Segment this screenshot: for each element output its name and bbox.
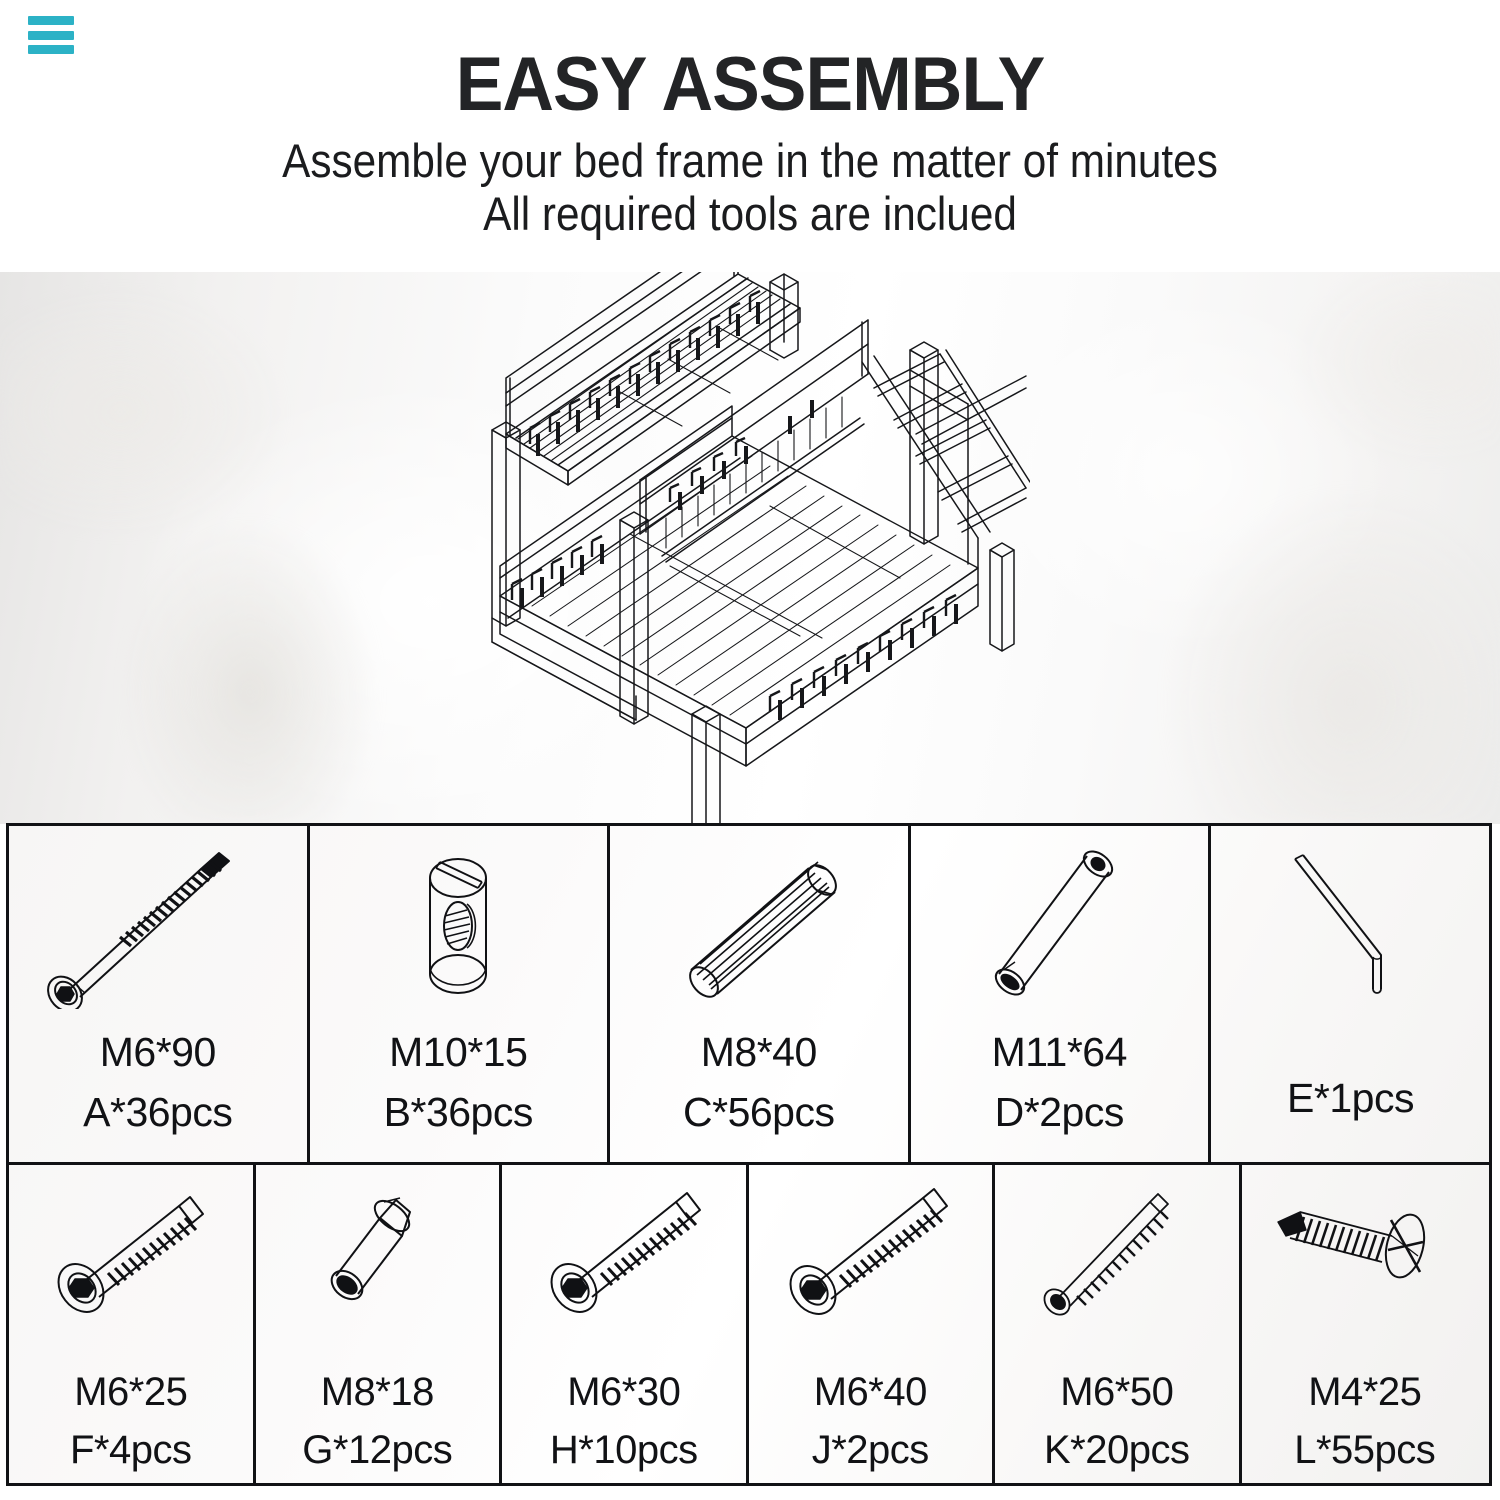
- part-cell-d[interactable]: M11*64 D*2pcs: [911, 826, 1212, 1162]
- part-cell-l[interactable]: M4*25 L*55pcs: [1242, 1165, 1489, 1483]
- part-labels-h: M6*30 H*10pcs: [502, 1363, 746, 1479]
- part-figure-h: [502, 1165, 746, 1363]
- part-labels-g: M8*18 G*12pcs: [256, 1363, 500, 1479]
- part-figure-j: [749, 1165, 993, 1363]
- part-figure-l: [1242, 1165, 1489, 1363]
- part-spec-a: M6*90: [9, 1022, 307, 1082]
- part-spec-h: M6*30: [502, 1363, 746, 1421]
- part-count-c: C*56pcs: [610, 1082, 908, 1142]
- part-cell-c[interactable]: M8*40 C*56pcs: [610, 826, 911, 1162]
- hex-socket-bolt-icon: [765, 1184, 975, 1344]
- wooden-dowel-icon: [649, 844, 869, 1004]
- barrel-nut-icon: [383, 834, 533, 1014]
- part-figure-e: [1211, 826, 1490, 1022]
- page-header: EASY ASSEMBLY Assemble your bed frame in…: [0, 0, 1500, 272]
- part-spec-k: M6*50: [995, 1363, 1239, 1421]
- metal-pin-icon: [959, 834, 1159, 1014]
- part-labels-j: M6*40 J*2pcs: [749, 1363, 993, 1479]
- part-cell-b[interactable]: M10*15 B*36pcs: [310, 826, 611, 1162]
- part-labels-a: M6*90 A*36pcs: [9, 1022, 307, 1142]
- hex-socket-bolt-icon: [31, 1184, 231, 1344]
- part-spec-g: M8*18: [256, 1363, 500, 1421]
- hamburger-bar-1: [28, 16, 74, 25]
- part-spec-b: M10*15: [310, 1022, 608, 1082]
- part-labels-l: M4*25 L*55pcs: [1242, 1363, 1489, 1479]
- part-count-l: L*55pcs: [1242, 1421, 1489, 1479]
- thin-wood-screw-icon: [1022, 1184, 1212, 1344]
- part-spec-l: M4*25: [1242, 1363, 1489, 1421]
- hamburger-bar-2: [28, 31, 74, 40]
- part-cell-k[interactable]: M6*50 K*20pcs: [995, 1165, 1242, 1483]
- part-labels-f: M6*25 F*4pcs: [9, 1363, 253, 1479]
- part-count-d: D*2pcs: [911, 1082, 1209, 1142]
- phillips-flat-screw-icon: [1260, 1184, 1470, 1344]
- part-count-g: G*12pcs: [256, 1421, 500, 1479]
- part-figure-b: [310, 826, 608, 1022]
- subtitle-block: Assemble your bed frame in the matter of…: [0, 134, 1500, 240]
- part-cell-g[interactable]: M8*18 G*12pcs: [256, 1165, 503, 1483]
- part-figure-g: [256, 1165, 500, 1363]
- part-cell-j[interactable]: M6*40 J*2pcs: [749, 1165, 996, 1483]
- part-figure-f: [9, 1165, 253, 1363]
- part-count-b: B*36pcs: [310, 1082, 608, 1142]
- part-labels-d: M11*64 D*2pcs: [911, 1022, 1209, 1142]
- hex-socket-bolt-long-icon: [33, 839, 283, 1009]
- part-cell-e[interactable]: E*1pcs: [1211, 826, 1490, 1162]
- part-labels-b: M10*15 B*36pcs: [310, 1022, 608, 1142]
- part-labels-e: E*1pcs: [1211, 1022, 1490, 1128]
- part-labels-c: M8*40 C*56pcs: [610, 1022, 908, 1142]
- hex-socket-bolt-icon: [524, 1184, 724, 1344]
- page-title: EASY ASSEMBLY: [45, 46, 1455, 124]
- part-count-k: K*20pcs: [995, 1421, 1239, 1479]
- part-figure-k: [995, 1165, 1239, 1363]
- part-count-e: E*1pcs: [1211, 1068, 1490, 1128]
- part-count-a: A*36pcs: [9, 1082, 307, 1142]
- allen-key-icon: [1261, 849, 1441, 999]
- part-figure-a: [9, 826, 307, 1022]
- part-spec-d: M11*64: [911, 1022, 1209, 1082]
- part-cell-f[interactable]: M6*25 F*4pcs: [9, 1165, 256, 1483]
- part-cell-a[interactable]: M6*90 A*36pcs: [9, 826, 310, 1162]
- barrel-sleeve-icon: [302, 1184, 452, 1344]
- part-spec-f: M6*25: [9, 1363, 253, 1421]
- part-cell-h[interactable]: M6*30 H*10pcs: [502, 1165, 749, 1483]
- part-figure-d: [911, 826, 1209, 1022]
- bunk-bed-line-drawing: [470, 272, 1030, 824]
- part-figure-c: [610, 826, 908, 1022]
- part-count-j: J*2pcs: [749, 1421, 993, 1479]
- part-labels-k: M6*50 K*20pcs: [995, 1363, 1239, 1479]
- parts-table-row-1: M6*90 A*36pcs: [9, 826, 1489, 1165]
- part-count-h: H*10pcs: [502, 1421, 746, 1479]
- hardware-parts-table: M6*90 A*36pcs: [6, 823, 1492, 1486]
- parts-table-row-2: M6*25 F*4pcs: [9, 1165, 1489, 1483]
- part-spec-j: M6*40: [749, 1363, 993, 1421]
- subtitle-line-2: All required tools are inclued: [75, 187, 1425, 240]
- subtitle-line-1: Assemble your bed frame in the matter of…: [75, 134, 1425, 187]
- product-hero-area: [0, 272, 1500, 824]
- part-spec-c: M8*40: [610, 1022, 908, 1082]
- part-count-f: F*4pcs: [9, 1421, 253, 1479]
